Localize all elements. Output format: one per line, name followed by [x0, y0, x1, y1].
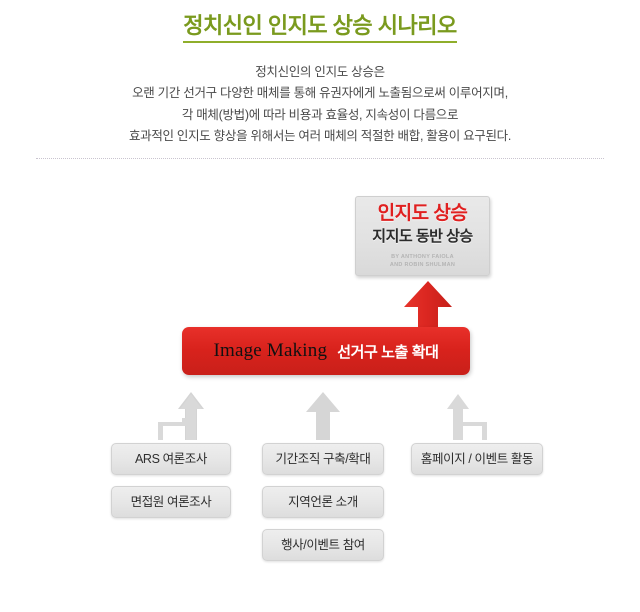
channel-column-right: 홈페이지 / 이벤트 활동	[411, 443, 543, 486]
channel-box[interactable]: 기간조직 구축/확대	[262, 443, 384, 475]
channel-box[interactable]: 홈페이지 / 이벤트 활동	[411, 443, 543, 475]
channel-box[interactable]: 지역언론 소개	[262, 486, 384, 518]
channel-box[interactable]: ARS 여론조사	[111, 443, 231, 475]
banner-english-label: Image Making	[213, 340, 327, 362]
gray-bent-up-arrow-left-icon	[158, 392, 204, 440]
channel-box[interactable]: 면접원 여론조사	[111, 486, 231, 518]
goal-credit-line-2: AND ROBIN SHULMAN	[356, 261, 489, 269]
scenario-diagram: 인지도 상승 지지도 동반 상승 BY ANTHONY FAIOLA AND R…	[0, 0, 640, 612]
channel-column-middle: 기간조직 구축/확대 지역언론 소개 행사/이벤트 참여	[262, 443, 384, 572]
goal-primary-label: 인지도 상승	[356, 202, 489, 226]
goal-credit-line-1: BY ANTHONY FAIOLA	[356, 253, 489, 261]
goal-secondary-label: 지지도 동반 상승	[356, 227, 489, 247]
gray-up-arrow-icon	[300, 392, 346, 440]
channel-box[interactable]: 행사/이벤트 참여	[262, 529, 384, 561]
goal-credit: BY ANTHONY FAIOLA AND ROBIN SHULMAN	[356, 253, 489, 270]
channel-column-left: ARS 여론조사 면접원 여론조사	[111, 443, 231, 529]
red-up-arrow-icon	[404, 281, 452, 333]
image-making-banner: Image Making 선거구 노출 확대	[182, 327, 470, 375]
banner-korean-label: 선거구 노출 확대	[337, 341, 438, 362]
gray-bent-up-arrow-right-icon	[445, 392, 491, 440]
goal-box: 인지도 상승 지지도 동반 상승 BY ANTHONY FAIOLA AND R…	[355, 196, 490, 276]
